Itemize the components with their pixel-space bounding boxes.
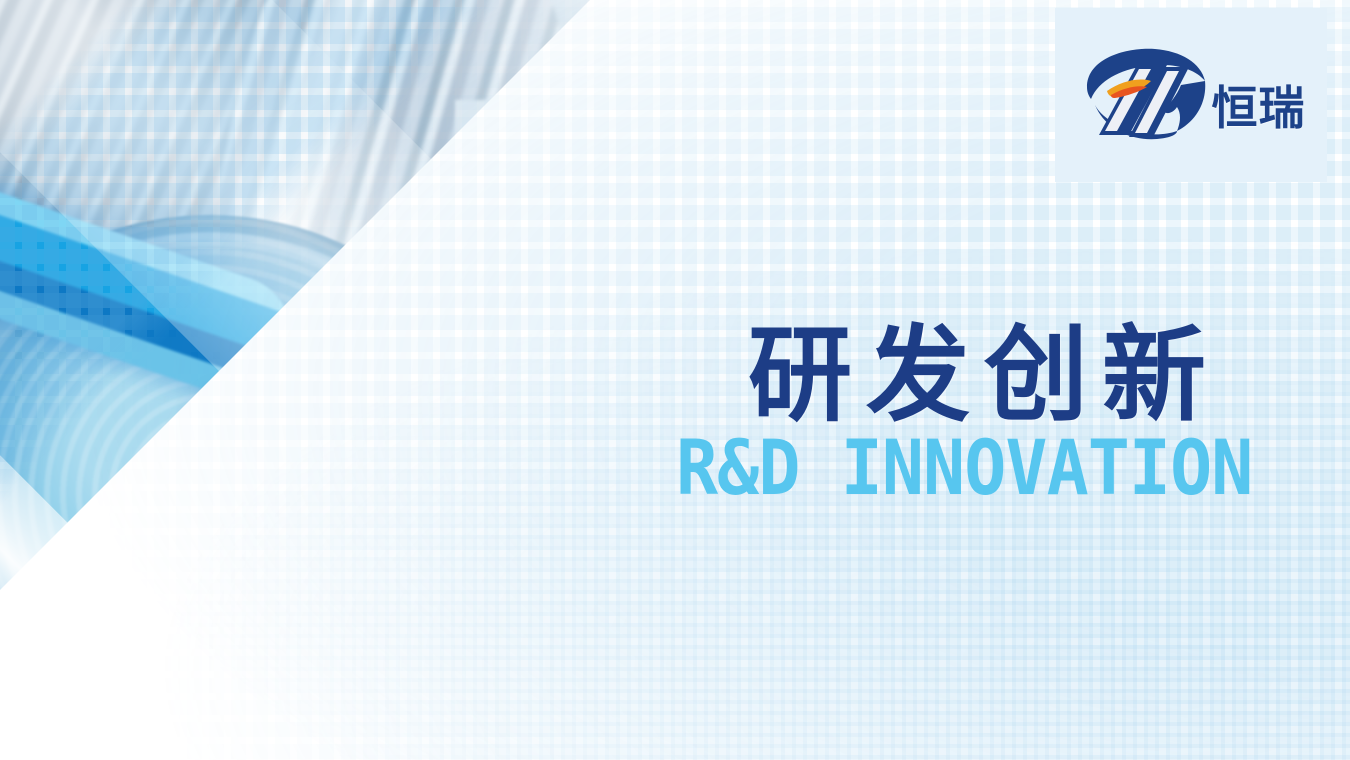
- brand-logo-plate: 恒瑞: [1055, 8, 1327, 182]
- page-title-en: R&D INNOVATION: [676, 430, 1294, 506]
- page-title-cn: 研发创新: [748, 322, 1348, 428]
- hengrui-emblem-icon: [1077, 43, 1212, 148]
- brand-name-cn: 恒瑞: [1212, 85, 1306, 131]
- rd-innovation-banner: 恒瑞 研发创新 R&D INNOVATION: [0, 0, 1350, 760]
- headline-block: 研发创新 R&D INNOVATION: [748, 322, 1348, 506]
